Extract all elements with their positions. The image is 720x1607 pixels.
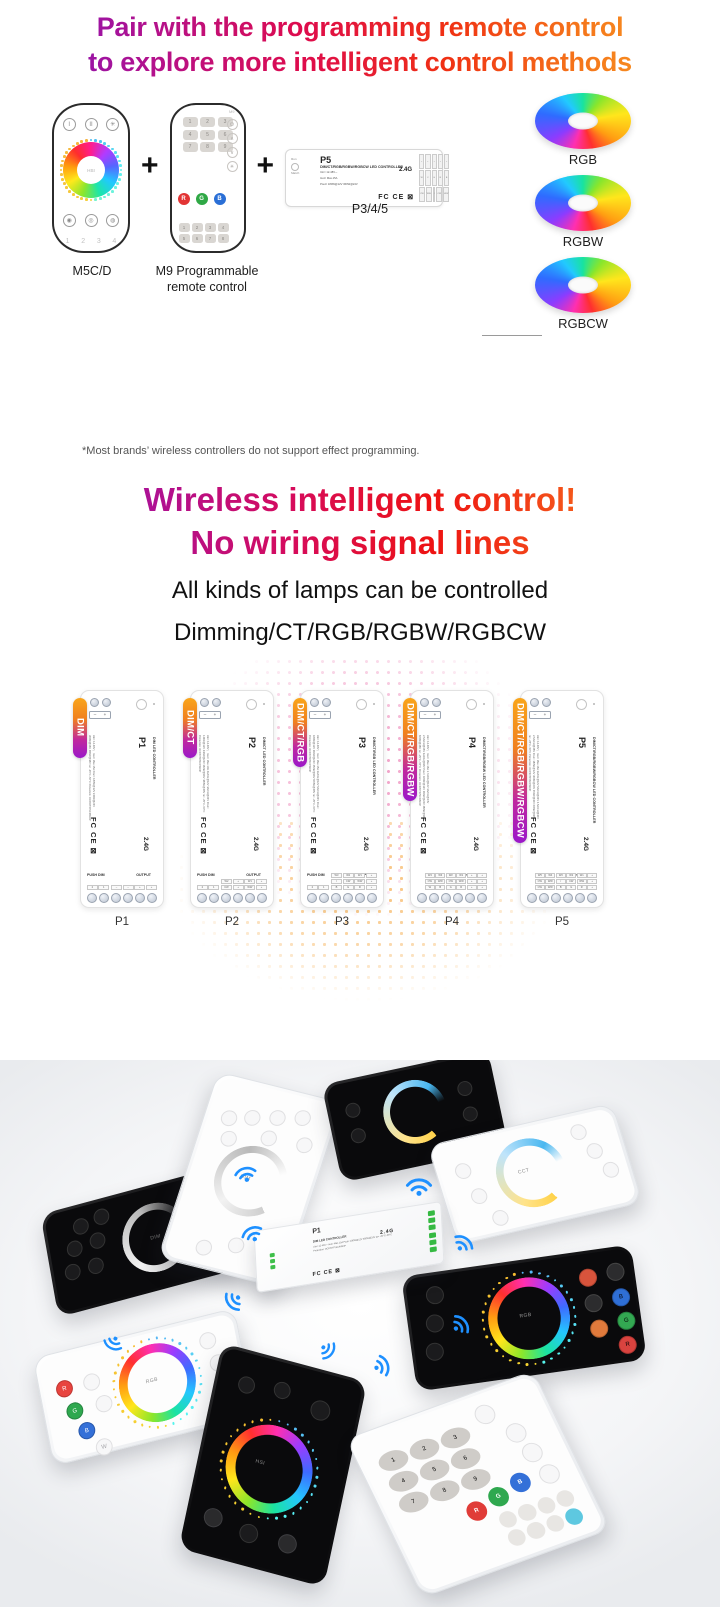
input-terminal: –+ — [419, 711, 441, 719]
match-button[interactable] — [576, 699, 587, 710]
m9-key[interactable]: 2 — [200, 117, 215, 127]
push-terminal-p3: 2 1 — [307, 885, 329, 890]
cct-dot — [521, 1271, 524, 1274]
terminal-cell: W2 — [566, 873, 576, 878]
screw-icon — [102, 698, 111, 707]
terminal-row: B G R + — [331, 885, 377, 890]
cct-dot — [118, 178, 121, 181]
m9-mode-icon[interactable]: ✳ — [227, 161, 238, 172]
cct-dot — [490, 1343, 493, 1346]
screw-icon — [429, 893, 439, 903]
push-cell: 1 — [98, 885, 109, 890]
terminal-cell: CW — [535, 885, 545, 890]
p5-terminal-cell: WW — [443, 187, 449, 202]
remote-m5cd[interactable]: I II ✳ HSI ◉ ◎ ◍ 1 2 3 4 — [52, 103, 130, 253]
cct-dot — [534, 1362, 537, 1365]
cct-dot — [566, 1291, 569, 1294]
controller-card-p5[interactable]: –+ P5 DIM/CT/RGB/RGBW/RGBCW LED CONTROLL… — [520, 690, 604, 908]
p5-terminal-row: CW WW / CW WW — [419, 187, 449, 202]
terminal-cell: CW — [221, 885, 232, 890]
output-terminal-p2: W2 + W1 + CW + WW + — [221, 879, 267, 890]
cct-dot — [234, 1502, 237, 1505]
controller-caption-p2: P2 — [190, 916, 274, 928]
m9-zone-key[interactable]: 4 — [218, 223, 229, 232]
m9-zone-key[interactable]: 3 — [205, 223, 216, 232]
cct-dot — [305, 1500, 308, 1503]
m5-zone-3[interactable]: 3 — [97, 238, 101, 245]
terminal-cell: CW — [535, 879, 545, 884]
match-button[interactable] — [136, 699, 147, 710]
terminal-cell: W1 — [577, 873, 587, 878]
cct-dot — [221, 1450, 224, 1453]
match-button[interactable] — [356, 699, 367, 710]
input-terminal: –+ — [309, 711, 331, 719]
cct-dot — [266, 1517, 269, 1520]
terminal-cell: CW — [425, 879, 435, 884]
controller-tab-p2: DIM/CT — [183, 698, 197, 758]
cct-dot — [243, 1424, 246, 1427]
m9-zone-key[interactable]: 8 — [218, 234, 229, 243]
caption-m9: M9 Programmable remote control — [126, 263, 288, 296]
scene-p1-status-leds — [270, 1253, 276, 1270]
pairing-footnote: *Most brands’ wireless controllers do no… — [82, 445, 420, 457]
m9-zone-keypad: 1 2 3 4 5 6 7 8 — [179, 223, 229, 243]
m9-button-green[interactable]: G — [196, 193, 208, 205]
led-strip-item: RGBCW — [508, 257, 658, 331]
cct-dot — [90, 199, 93, 202]
cct-dot — [103, 196, 106, 199]
cct-dot — [114, 1396, 117, 1399]
cct-dot — [301, 1433, 304, 1436]
cct-dot — [487, 1294, 490, 1297]
terminal-led-icon — [428, 1210, 435, 1216]
led-reel-rgbw — [535, 175, 631, 231]
cct-dot — [224, 1486, 227, 1489]
terminal-cell: + — [587, 873, 597, 878]
input-terminal: –+ — [199, 711, 221, 719]
cct-dot — [230, 1435, 233, 1438]
cct-dot — [315, 1457, 318, 1460]
cct-dot — [299, 1507, 302, 1510]
m5-zone-1[interactable]: 1 — [66, 238, 70, 245]
push-cell: 2 — [87, 885, 98, 890]
terminal-cell: CW — [343, 879, 354, 884]
screw-icon — [147, 893, 157, 903]
terminal-cell: B — [331, 885, 342, 890]
m9-key[interactable]: 7 — [183, 142, 198, 152]
m5-button-on[interactable]: I — [63, 118, 76, 131]
m5-top-buttons: I II ✳ — [54, 118, 128, 131]
terminal-screws-bottom — [301, 893, 383, 903]
cct-dot — [107, 193, 110, 196]
caption-p345: P3/4/5 — [290, 201, 450, 217]
screw-icon — [233, 893, 243, 903]
terminal-cell: + — [366, 873, 377, 878]
cct-dot — [294, 1427, 297, 1430]
m9-button-red[interactable]: R — [178, 193, 190, 205]
input-terminal: –+ — [89, 711, 111, 719]
terminal-cell: + — [256, 885, 267, 890]
m5-button-mode-icon[interactable]: ✳ — [106, 118, 119, 131]
screw-icon — [245, 893, 255, 903]
page-headline: Pair with the programming remote control… — [0, 0, 720, 79]
screw-icon — [417, 893, 427, 903]
cct-dot — [307, 1441, 310, 1444]
scene-p1-terminal-leds — [428, 1210, 437, 1252]
controller-tab-p3: DIM/CT/RGB — [293, 698, 307, 767]
screw-icon — [563, 893, 573, 903]
remote-m5cd-group: I II ✳ HSI ◉ ◎ ◍ 1 2 3 4 — [52, 103, 130, 253]
controller-caption-p4: P4 — [410, 916, 494, 928]
m5-zone-2[interactable]: 2 — [81, 238, 85, 245]
terminal-row: – – + + — [111, 885, 157, 890]
cct-dot — [221, 1477, 224, 1480]
m9-rgb-buttons: R G B — [172, 193, 232, 205]
controller-caption-p1: P1 — [80, 916, 164, 928]
cct-dot — [199, 1383, 202, 1386]
cct-dot — [113, 1388, 116, 1391]
controller-row: DIM –+ P1 DIM LED CONTROLLER Uin= 12-48V… — [80, 690, 604, 928]
terminal-cell: G — [446, 885, 456, 890]
controller-desc-p4: DIM/CT/RGB/RGBW LED CONTROLLER — [482, 737, 486, 808]
cct-dot — [133, 1420, 136, 1423]
m5-button-power[interactable]: ◎ — [85, 214, 98, 227]
controller-specs-p1: Uin= 12-48V⎓ Iout= Max.15A Pout= 180W@12… — [87, 735, 95, 821]
promo-headline: Wireless intelligent control! No wiring … — [0, 479, 720, 650]
screw-icon — [465, 893, 475, 903]
plus-sign-1: + — [141, 149, 159, 207]
terminal-cell: W2 — [343, 873, 354, 878]
controller-name-p2: P2 — [247, 737, 257, 748]
screw-icon — [310, 698, 319, 707]
terminal-cell: B — [435, 885, 445, 890]
terminal-screws-top — [90, 698, 111, 707]
terminal-cell: / — [331, 879, 342, 884]
controller-desc-p1: DIM LED CONTROLLER — [152, 737, 156, 780]
status-led-icon — [270, 1253, 275, 1258]
cct-dot — [171, 1339, 174, 1342]
cct-dot — [316, 1467, 319, 1470]
headline-line-2: to explore more intelligent control meth… — [0, 45, 720, 80]
m9-zone-key[interactable]: 5 — [179, 234, 190, 243]
push-dim-label-p2: PUSH DIM — [197, 873, 215, 877]
cct-dot — [121, 1356, 124, 1359]
cct-dot — [260, 1418, 263, 1421]
cct-dot — [572, 1306, 575, 1309]
p5-terminal-cell: G — [432, 170, 437, 185]
terminal-cell: W — [425, 885, 435, 890]
push-terminal-p1: 2 1 — [87, 885, 109, 890]
p5-terminal-cell: + — [425, 154, 430, 169]
cct-dot — [505, 1277, 508, 1280]
pairing-equation: I II ✳ HSI ◉ ◎ ◍ 1 2 3 4 — [52, 103, 443, 253]
screw-icon — [355, 893, 365, 903]
controller-name-p1: P1 — [137, 737, 147, 748]
status-led-icon — [270, 1259, 275, 1264]
cct-dot — [219, 1468, 222, 1471]
cct-dot — [199, 1374, 202, 1377]
terminal-row: W3 W2 W1 + — [331, 873, 377, 878]
push-dim-label-p1: PUSH DIM — [87, 873, 105, 877]
cct-dot — [190, 1352, 193, 1355]
output-terminal-p4: W4 W3 W2 W1 + + CW WW CW WW + + — [425, 873, 487, 890]
plus-sign-2: + — [257, 149, 275, 207]
caption-m9-line1: M9 Programmable — [126, 263, 288, 279]
terminal-cell: + — [233, 879, 244, 884]
screw-icon — [221, 893, 231, 903]
terminal-cell: WW — [435, 879, 445, 884]
controller-card-p4[interactable]: –+ P4 DIM/CT/RGB/RGBW LED CONTROLLER Uin… — [410, 690, 494, 908]
controller-desc-p5: DIM/CT/RGB/RGBW/RGBCW LED CONTROLLER — [592, 737, 596, 823]
cct-dot — [60, 169, 63, 172]
m9-zone-key[interactable]: 2 — [192, 223, 203, 232]
terminal-cell: G — [343, 885, 354, 890]
cct-dot — [284, 1515, 287, 1518]
cct-dot — [557, 1352, 560, 1355]
terminal-cell: + — [366, 879, 377, 884]
terminal-cell: + — [587, 879, 597, 884]
m9-down-icon[interactable]: ∨ — [227, 147, 238, 158]
rf-badge-p4: 2.4G — [472, 837, 479, 851]
cct-dot — [163, 1337, 166, 1340]
screw-icon — [331, 893, 341, 903]
m5-color-wheel[interactable]: HSI — [63, 142, 119, 198]
cct-dot — [492, 1287, 495, 1290]
m9-power-icon[interactable]: ⏻ — [227, 119, 238, 130]
m9-key[interactable]: 5 — [200, 130, 215, 140]
cert-marks-p3: FC CE ⊠ — [309, 817, 318, 855]
screw-icon — [441, 893, 451, 903]
cct-dot — [554, 1279, 557, 1282]
cct-dot — [191, 1406, 194, 1409]
cct-dot — [498, 1281, 501, 1284]
promo-sub-2: Dimming/CT/RGB/RGBW/RGBCW — [0, 617, 720, 649]
terminal-cell: WW — [456, 879, 466, 884]
screw-icon — [99, 893, 109, 903]
cct-dot — [486, 1335, 489, 1338]
match-button[interactable] — [466, 699, 477, 710]
p5-terminal-row: + + + + + — [419, 154, 449, 169]
output-terminal-p5: W5 W4 W3 W2 W1 + CW WW / CW WW + — [535, 873, 597, 890]
push-cell: 1 — [318, 885, 329, 890]
cct-dot — [546, 1275, 549, 1278]
controller-card-p3[interactable]: –+ P3 DIM/CT/RGB LED CONTROLLER Uin= 12-… — [300, 690, 384, 908]
controller-item-p2: DIM/CT –+ P2 DIM/CT LED CONTROLLER Uin= … — [190, 690, 274, 928]
scene-p1-name: P1 — [312, 1227, 321, 1235]
controller-card-p1[interactable]: –+ P1 DIM LED CONTROLLER Uin= 12-48V⎓ Io… — [80, 690, 164, 908]
cct-dot — [560, 1284, 563, 1287]
controller-item-p4: DIM/CT/RGB/RGBW –+ P4 DIM/CT/RGB/RGBW LE… — [410, 690, 494, 928]
status-led-icon — [263, 703, 265, 705]
output-terminal-p1: – – + + — [111, 885, 157, 890]
push-dim-label-p3: PUSH DIM — [307, 873, 325, 877]
screw-icon — [530, 698, 539, 707]
terminal-cell: + — [146, 885, 157, 890]
controller-card-p2[interactable]: –+ P2 DIM/CT LED CONTROLLER Uin= 12-48V⎓… — [190, 690, 274, 908]
m9-keypad: 1 2 3 4 5 6 7 8 9 — [183, 117, 233, 152]
m5-button-preset-1[interactable]: ◉ — [63, 214, 76, 227]
cct-dot — [225, 1442, 228, 1445]
terminal-cell: / — [556, 879, 566, 884]
screw-icon — [477, 893, 487, 903]
cert-marks-p2: FC CE ⊠ — [199, 817, 208, 855]
terminal-row: CW + WW + — [221, 885, 267, 890]
cct-dot — [111, 190, 114, 193]
m9-zone-key[interactable]: 1 — [179, 223, 190, 232]
terminal-cell: – — [111, 885, 122, 890]
promo-sub-1: All kinds of lamps can be controlled — [0, 575, 720, 607]
m5-wheel-label: HSI — [87, 168, 95, 173]
cct-dot — [141, 1423, 144, 1426]
rf-badge-p3: 2.4G — [362, 837, 369, 851]
output-label-p2: OUTPUT — [246, 873, 261, 877]
screw-icon — [539, 893, 549, 903]
terminal-cell: WW — [354, 879, 365, 884]
led-strip-group: RGB RGBW RGBCW — [508, 93, 658, 339]
terminal-cell: + — [587, 885, 597, 890]
screw-icon — [587, 893, 597, 903]
wifi-signal-icon — [315, 1336, 345, 1367]
cct-dot — [538, 1272, 541, 1275]
cct-dot — [172, 1422, 175, 1425]
terminal-cell: CW — [566, 879, 576, 884]
m9-zone-key[interactable]: 7 — [205, 234, 216, 243]
cct-dot — [251, 1420, 254, 1423]
terminal-screws-bottom — [191, 893, 273, 903]
m5-bottom-buttons: ◉ ◎ ◍ — [54, 214, 128, 227]
remote-m9[interactable]: M9 1 2 3 4 5 6 7 8 9 ⏻ ∧ ∨ ✳ R G B — [170, 103, 246, 253]
p5-match-knob[interactable] — [291, 163, 299, 171]
screw-icon — [111, 893, 121, 903]
led-strip-item: RGBW — [508, 175, 658, 249]
cct-dot — [236, 1428, 239, 1431]
terminal-row: CW WW CW WW + + — [425, 879, 487, 884]
cct-dot — [76, 196, 79, 199]
terminal-row: W4 W3 W2 W1 + + — [425, 873, 487, 878]
cct-dot — [114, 1371, 117, 1374]
m9-key[interactable]: 4 — [183, 130, 198, 140]
cct-dot — [228, 1494, 231, 1497]
screw-icon — [200, 698, 209, 707]
cct-dot — [517, 1362, 520, 1365]
m5-zone-4[interactable]: 4 — [112, 238, 116, 245]
terminal-screws-top — [420, 698, 441, 707]
cct-dot — [310, 1493, 313, 1496]
cct-dot — [257, 1515, 260, 1518]
cct-dot — [286, 1423, 289, 1426]
cct-dot — [573, 1323, 576, 1326]
screw-icon — [343, 893, 353, 903]
screw-icon — [453, 893, 463, 903]
cct-dot — [90, 139, 93, 142]
p5-terminal-cell: CW — [419, 187, 425, 202]
match-button[interactable] — [246, 699, 257, 710]
cct-dot — [195, 1359, 198, 1362]
controller-caption-p5: P5 — [520, 916, 604, 928]
terminal-screws-top — [310, 698, 331, 707]
output-label-p1: OUTPUT — [136, 873, 151, 877]
cct-dot — [119, 173, 122, 176]
terminal-row: W5 W4 W3 W2 W1 + — [535, 873, 597, 878]
led-label-rgb: RGB — [508, 152, 658, 167]
cct-dot — [147, 1338, 150, 1341]
cct-dot — [186, 1412, 189, 1415]
terminal-cell: W2 — [221, 879, 232, 884]
terminal-cell: R — [354, 885, 365, 890]
m9-key[interactable]: 1 — [183, 117, 198, 127]
terminal-cell: W1 — [456, 873, 466, 878]
terminal-cell: + — [467, 873, 477, 878]
cct-dot — [140, 1340, 143, 1343]
m9-up-icon[interactable]: ∧ — [227, 133, 238, 144]
caption-m9-line2: remote control — [126, 279, 288, 295]
status-led-icon — [153, 703, 155, 705]
rf-badge-p1: 2.4G — [142, 837, 149, 851]
terminal-cell: W4 — [425, 873, 435, 878]
status-led-icon — [483, 703, 485, 705]
output-terminal-p3: W3 W2 W1 + / CW WW + B G R — [331, 873, 377, 890]
promo-line-2: No wiring signal lines — [0, 522, 720, 565]
controller-name-p4: P4 — [467, 737, 477, 748]
terminal-cell: + — [366, 885, 377, 890]
cct-dot — [113, 1379, 116, 1382]
controller-specs-p4: Uin= 12-48V⎓ Iout= Max.16A 1.7A/CH@12V 3… — [417, 735, 429, 821]
p5-terminal-cell: + — [419, 154, 424, 169]
cct-dot — [568, 1339, 571, 1342]
m5-zone-buttons: 1 2 3 4 — [54, 238, 128, 245]
caption-m5cd: M5C/D — [52, 263, 132, 279]
terminal-cell: W1 — [354, 873, 365, 878]
cct-dot — [502, 1355, 505, 1358]
scene-p1-certs: FC CE ⊠ — [312, 1268, 340, 1278]
controller-caption-p3: P3 — [300, 916, 384, 928]
m9-key[interactable]: 8 — [200, 142, 215, 152]
controller-specs-p5: Uin= 12-48V⎓ Iout= Max.16A 3A/CH@12V 5A/… — [527, 735, 539, 821]
m9-side-buttons: ⏻ ∧ ∨ ✳ — [227, 119, 238, 172]
cct-dot — [133, 1345, 136, 1348]
cct-dot — [195, 1399, 198, 1402]
screw-icon — [135, 893, 145, 903]
p5-rf-badge: 2.4G — [399, 167, 412, 173]
remote-rgb-black-right[interactable]: RGB B G R — [401, 1244, 647, 1391]
cct-dot — [114, 151, 117, 154]
screw-icon — [432, 698, 441, 707]
cct-dot — [120, 169, 123, 172]
cert-marks-p4: FC CE ⊠ — [419, 817, 428, 855]
status-led-icon — [593, 703, 595, 705]
terminal-cell: + — [477, 885, 487, 890]
cct-dot — [198, 1391, 201, 1394]
screw-icon — [420, 698, 429, 707]
cert-marks-p5: FC CE ⊠ — [529, 817, 538, 855]
cct-dot — [119, 164, 122, 167]
terminal-cell: WW — [545, 879, 555, 884]
status-led-icon — [373, 703, 375, 705]
m9-zone-key[interactable]: 6 — [192, 234, 203, 243]
screw-icon — [307, 893, 317, 903]
remote-m9-keypad[interactable]: 1 2 3 4 5 6 7 8 9 R G B — [345, 1370, 611, 1597]
cct-dot — [99, 197, 102, 200]
screw-icon — [322, 698, 331, 707]
terminal-cell: W3 — [435, 873, 445, 878]
terminal-cell: WW — [244, 885, 255, 890]
m9-button-blue[interactable]: B — [214, 193, 226, 205]
cct-dot — [314, 1485, 317, 1488]
m5-button-preset-2[interactable]: ◍ — [106, 214, 119, 227]
m5-button-off[interactable]: II — [85, 118, 98, 131]
p5-terminal-cell: R — [438, 170, 443, 185]
controller-item-p5: DIM/CT/RGB/RGBW/RGBCW –+ P5 DIM/CT/RGB/R… — [520, 690, 604, 928]
